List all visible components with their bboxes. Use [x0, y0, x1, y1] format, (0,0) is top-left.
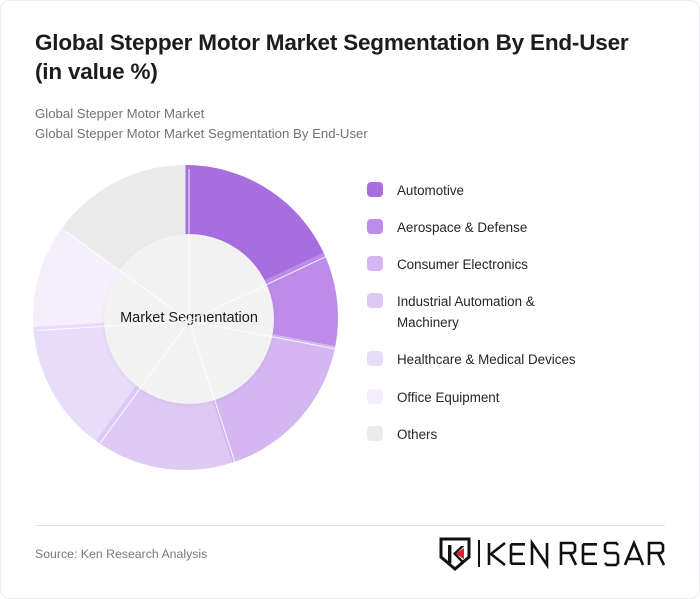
donut-center: Market Segmentation: [104, 234, 274, 404]
legend-label: Industrial Automation & Machinery: [397, 292, 597, 334]
legend-item[interactable]: Consumer Electronics: [367, 255, 665, 276]
chart-card: Global Stepper Motor Market Segmentation…: [0, 0, 700, 599]
legend-item[interactable]: Aerospace & Defense: [367, 218, 665, 239]
legend-color-swatch: [367, 389, 383, 404]
footer-divider: [35, 525, 665, 526]
ken-research-logo: [437, 537, 665, 571]
legend-item[interactable]: Office Equipment: [367, 388, 665, 409]
page-title: Global Stepper Motor Market Segmentation…: [35, 29, 660, 87]
legend-color-swatch: [367, 182, 383, 197]
chart-header: Global Stepper Motor Market Segmentation…: [1, 1, 699, 145]
legend-label: Others: [397, 425, 437, 446]
legend-label: Office Equipment: [397, 388, 499, 409]
legend-color-swatch: [367, 256, 383, 271]
legend-color-swatch: [367, 293, 383, 308]
legend-item[interactable]: Industrial Automation & Machinery: [367, 292, 665, 334]
chart-footer: Source: Ken Research Analysis: [35, 534, 665, 574]
legend-item[interactable]: Automotive: [367, 181, 665, 202]
chart-legend: AutomotiveAerospace & DefenseConsumer El…: [345, 159, 665, 463]
source-note: Source: Ken Research Analysis: [35, 547, 207, 561]
chart-subtitle-market: Global Stepper Motor Market: [35, 104, 665, 124]
legend-color-swatch: [367, 351, 383, 366]
chart-subtitle-segment: Global Stepper Motor Market Segmentation…: [35, 124, 665, 144]
donut-chart: Market Segmentation: [33, 159, 345, 479]
legend-label: Aerospace & Defense: [397, 218, 527, 239]
legend-label: Healthcare & Medical Devices: [397, 350, 576, 371]
legend-label: Automotive: [397, 181, 464, 202]
legend-color-swatch: [367, 426, 383, 441]
legend-color-swatch: [367, 219, 383, 234]
chart-body: Market Segmentation AutomotiveAerospace …: [1, 159, 699, 489]
legend-item[interactable]: Healthcare & Medical Devices: [367, 350, 665, 371]
legend-label: Consumer Electronics: [397, 255, 528, 276]
legend-item[interactable]: Others: [367, 425, 665, 446]
donut-center-label: Market Segmentation: [112, 309, 266, 328]
